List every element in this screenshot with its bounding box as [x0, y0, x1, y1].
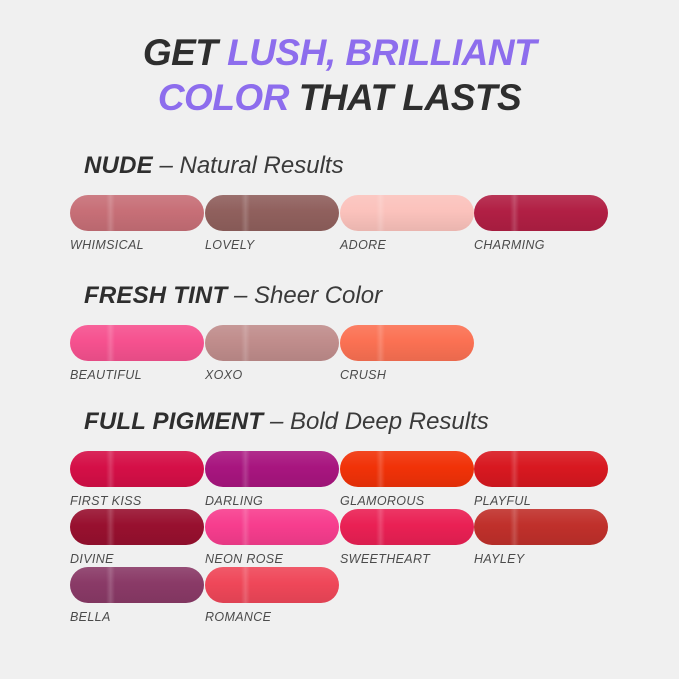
swatch-color-chip[interactable]: [474, 509, 608, 545]
swatch-color-chip[interactable]: [340, 509, 474, 545]
swatch-label: NEON ROSE: [205, 552, 339, 566]
swatch-label: XOXO: [205, 368, 339, 382]
swatch-color-chip[interactable]: [70, 451, 204, 487]
swatch-whimsical[interactable]: WHIMSICAL: [70, 195, 204, 252]
section-name: NUDE: [84, 152, 153, 179]
swatch-label: LOVELY: [205, 238, 339, 252]
swatch-color-chip[interactable]: [340, 451, 474, 487]
headline-text-that-lasts: THAT LASTS: [289, 77, 521, 118]
swatch-label: WHIMSICAL: [70, 238, 204, 252]
swatch-color-chip[interactable]: [205, 567, 339, 603]
swatch-color-chip[interactable]: [70, 195, 204, 231]
swatch-neon-rose[interactable]: NEON ROSE: [205, 509, 339, 566]
section-title: FULL PIGMENT – Bold Deep Results: [84, 408, 489, 436]
swatch-label: SWEETHEART: [340, 552, 474, 566]
swatch-xoxo[interactable]: XOXO: [205, 325, 339, 382]
swatch-sweetheart[interactable]: SWEETHEART: [340, 509, 474, 566]
swatch-label: BELLA: [70, 610, 204, 624]
section-subtitle: Natural Results: [180, 152, 344, 179]
swatch-row: BEAUTIFULXOXOCRUSH: [0, 325, 679, 383]
section-name: FULL PIGMENT: [84, 408, 263, 435]
swatch-label: BEAUTIFUL: [70, 368, 204, 382]
headline-text-get: GET: [143, 32, 227, 73]
page-headline: GET LUSH, BRILLIANT COLOR THAT LASTS: [0, 30, 679, 120]
section-title: FRESH TINT – Sheer Color: [84, 282, 382, 310]
swatch-charming[interactable]: CHARMING: [474, 195, 608, 252]
swatch-label: PLAYFUL: [474, 494, 608, 508]
swatch-bella[interactable]: BELLA: [70, 567, 204, 624]
swatch-crush[interactable]: CRUSH: [340, 325, 474, 382]
swatch-color-chip[interactable]: [205, 325, 339, 361]
section-subtitle: Bold Deep Results: [290, 408, 489, 435]
swatch-lovely[interactable]: LOVELY: [205, 195, 339, 252]
section-title: NUDE – Natural Results: [84, 152, 344, 180]
swatch-row: FIRST KISSDARLINGGLAMOROUSPLAYFUL: [0, 451, 679, 509]
headline-line-2: COLOR THAT LASTS: [0, 75, 679, 120]
lipstick-shade-chart: GET LUSH, BRILLIANT COLOR THAT LASTS NUD…: [0, 0, 679, 679]
swatch-color-chip[interactable]: [340, 325, 474, 361]
swatch-color-chip[interactable]: [205, 451, 339, 487]
swatch-label: ROMANCE: [205, 610, 339, 624]
swatch-romance[interactable]: ROMANCE: [205, 567, 339, 624]
headline-accent-color: COLOR: [158, 77, 289, 118]
swatch-label: CRUSH: [340, 368, 474, 382]
swatch-label: FIRST KISS: [70, 494, 204, 508]
headline-accent-lush-brilliant: LUSH, BRILLIANT: [227, 32, 536, 73]
swatch-playful[interactable]: PLAYFUL: [474, 451, 608, 508]
swatch-grid: BEAUTIFULXOXOCRUSH: [0, 325, 679, 383]
swatch-row: WHIMSICALLOVELYADORECHARMING: [0, 195, 679, 253]
swatch-hayley[interactable]: HAYLEY: [474, 509, 608, 566]
headline-line-1: GET LUSH, BRILLIANT: [0, 30, 679, 75]
section-separator: –: [153, 152, 180, 179]
swatch-glamorous[interactable]: GLAMOROUS: [340, 451, 474, 508]
swatch-first-kiss[interactable]: FIRST KISS: [70, 451, 204, 508]
swatch-color-chip[interactable]: [340, 195, 474, 231]
swatch-label: HAYLEY: [474, 552, 608, 566]
swatch-grid: WHIMSICALLOVELYADORECHARMING: [0, 195, 679, 253]
swatch-color-chip[interactable]: [205, 195, 339, 231]
section-separator: –: [227, 282, 254, 309]
swatch-row: DIVINENEON ROSESWEETHEARTHAYLEY: [0, 509, 679, 567]
swatch-color-chip[interactable]: [205, 509, 339, 545]
swatch-adore[interactable]: ADORE: [340, 195, 474, 252]
section-subtitle: Sheer Color: [254, 282, 382, 309]
swatch-color-chip[interactable]: [70, 509, 204, 545]
swatch-color-chip[interactable]: [70, 325, 204, 361]
swatch-label: CHARMING: [474, 238, 608, 252]
swatch-row: BELLAROMANCE: [0, 567, 679, 625]
section-separator: –: [263, 408, 290, 435]
swatch-darling[interactable]: DARLING: [205, 451, 339, 508]
swatch-divine[interactable]: DIVINE: [70, 509, 204, 566]
swatch-label: DIVINE: [70, 552, 204, 566]
swatch-color-chip[interactable]: [474, 451, 608, 487]
swatch-label: GLAMOROUS: [340, 494, 474, 508]
swatch-beautiful[interactable]: BEAUTIFUL: [70, 325, 204, 382]
swatch-color-chip[interactable]: [70, 567, 204, 603]
swatch-color-chip[interactable]: [474, 195, 608, 231]
swatch-label: ADORE: [340, 238, 474, 252]
swatch-label: DARLING: [205, 494, 339, 508]
swatch-grid: FIRST KISSDARLINGGLAMOROUSPLAYFULDIVINEN…: [0, 451, 679, 625]
section-name: FRESH TINT: [84, 282, 227, 309]
